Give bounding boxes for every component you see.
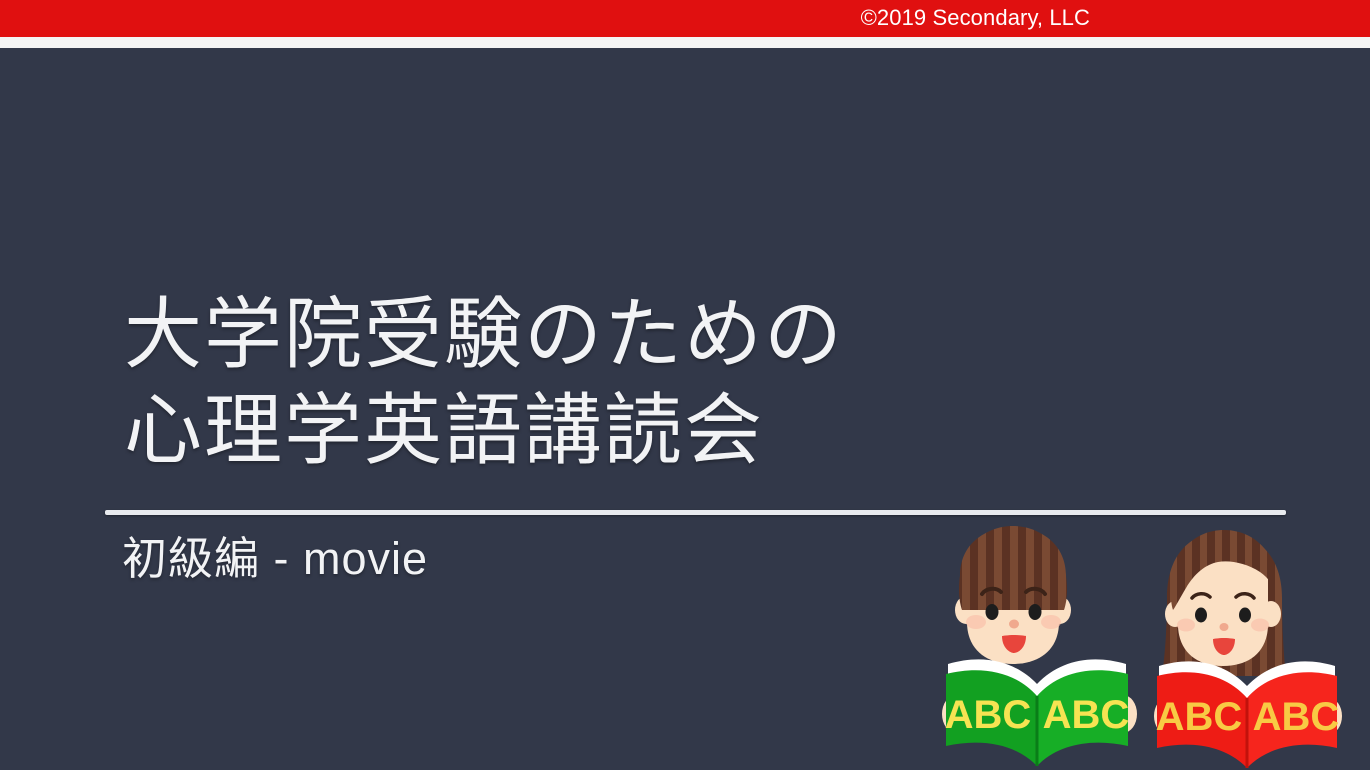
girl-figure: ABC ABC	[1154, 530, 1342, 768]
slide-title: 大学院受験のための 心理学英語講読会	[124, 286, 1294, 478]
boy-book-text-right: ABC	[1043, 693, 1130, 737]
slide-subtitle: 初級編 - movie	[122, 527, 428, 591]
children-reading-illustration: ABC ABC	[930, 518, 1370, 770]
girl-right-cheek	[1251, 619, 1269, 632]
copyright-banner: ©2019 Secondary, LLC	[0, 0, 1370, 37]
boy-book-text-left: ABC	[945, 693, 1032, 737]
title-divider-rule	[105, 510, 1286, 515]
girl-book-text-right: ABC	[1253, 695, 1340, 739]
girl-right-eye	[1239, 608, 1251, 623]
boy-right-cheek	[1041, 615, 1061, 629]
banner-divider	[0, 37, 1370, 48]
boy-left-eye	[986, 604, 999, 620]
boy-nose	[1009, 620, 1019, 629]
girl-left-cheek	[1177, 619, 1195, 632]
boy-left-cheek	[966, 615, 986, 629]
copyright-text: ©2019 Secondary, LLC	[861, 4, 1090, 32]
girl-left-eye	[1195, 608, 1207, 623]
boy-right-eye	[1029, 604, 1042, 620]
title-line-2: 心理学英語講読会	[124, 382, 1294, 478]
girl-book-text-left: ABC	[1156, 695, 1243, 739]
boy-figure: ABC ABC	[942, 518, 1137, 766]
girl-nose	[1220, 623, 1229, 631]
title-line-1: 大学院受験のための	[124, 286, 1294, 382]
presentation-slide: ©2019 Secondary, LLC 大学院受験のための 心理学英語講読会 …	[0, 0, 1370, 770]
